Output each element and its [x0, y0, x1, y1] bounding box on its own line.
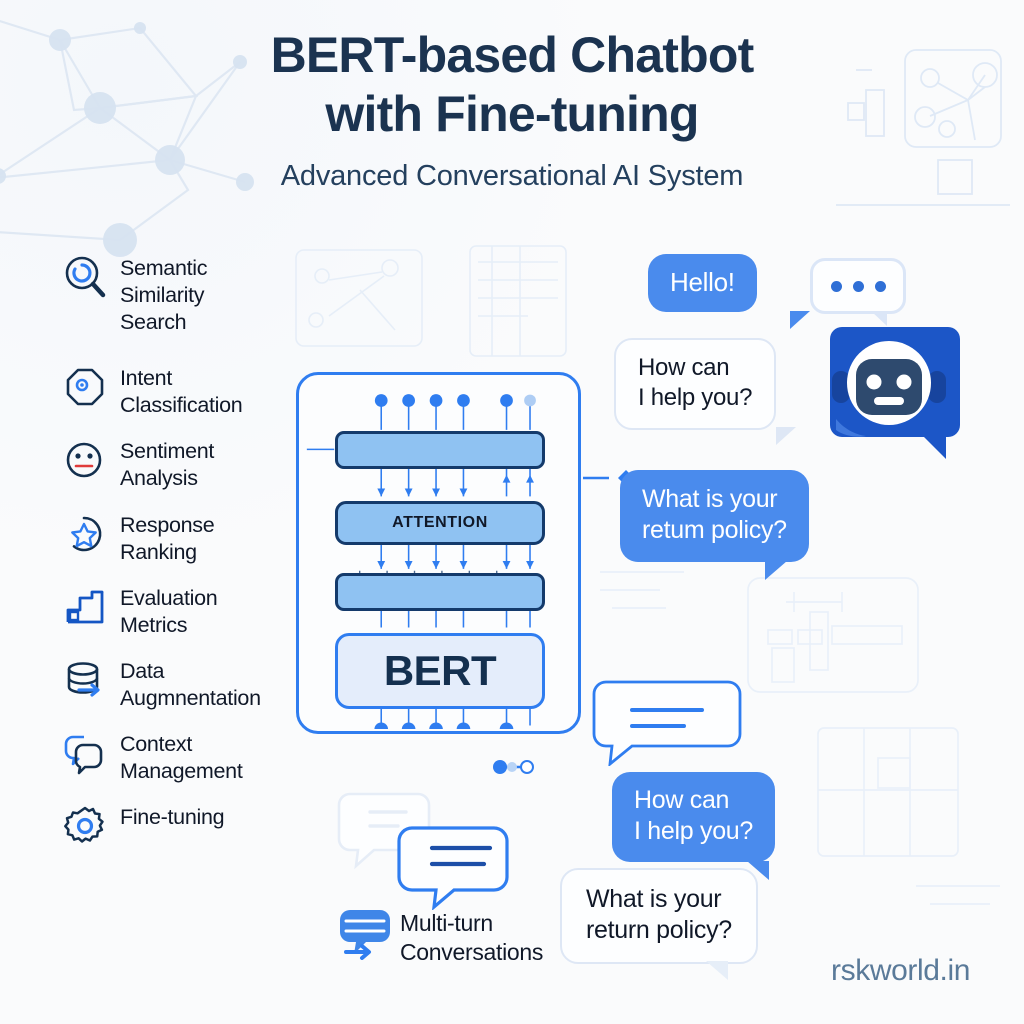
typing-dot	[831, 281, 842, 292]
feature-item-multi-turn-conversations[interactable]: Multi-turn Conversations	[340, 908, 543, 967]
database-arrow-icon	[62, 657, 108, 703]
chatbot-avatar	[818, 327, 960, 459]
bubble-text: How can I help you?	[634, 786, 753, 845]
bubble-tail	[790, 311, 810, 329]
feature-item-intent-classification[interactable]: Intent Classification	[62, 362, 314, 419]
feature-label: Sentiment Analysis	[120, 435, 214, 492]
neutral-face-icon	[62, 437, 108, 483]
bubble-tail	[765, 561, 787, 580]
bar-chart-icon	[62, 584, 108, 630]
feature-item-evaluation-metrics[interactable]: Evaluation Metrics	[62, 582, 314, 639]
watermark: rskworld.in	[831, 954, 970, 988]
typing-indicator-bubble	[810, 258, 906, 314]
bubble-tail	[706, 961, 728, 980]
feature-label: Intent Classification	[120, 362, 242, 419]
bubble-text: What is your retum policy?	[642, 485, 787, 544]
typing-dot	[853, 281, 864, 292]
page-subtitle: Advanced Conversational AI System	[0, 160, 1024, 193]
feature-label: Context Management	[120, 728, 243, 785]
feature-item-sentiment-analysis[interactable]: Sentiment Analysis	[62, 435, 314, 492]
attention-layer: ATTENTION	[335, 501, 545, 545]
chat-bubble-how-can-i-help-top[interactable]: How can I help you?	[614, 338, 776, 430]
star-circle-icon	[62, 511, 108, 557]
title-line-1: BERT-based Chatbot	[0, 26, 1024, 85]
bubble-tail	[776, 427, 796, 445]
chat-bubble-how-can-i-help-bottom[interactable]: How can I help you?	[612, 772, 775, 862]
gear-icon	[62, 803, 108, 849]
encoder-layer-bottom	[335, 573, 545, 611]
header-block: BERT-based Chatbot with Fine-tuning Adva…	[0, 26, 1024, 193]
feature-label: Fine-tuning	[120, 801, 224, 831]
feature-item-data-augmentation[interactable]: Data Augmnentation	[62, 655, 314, 712]
multi-turn-bubble-icon	[340, 908, 390, 965]
feature-label: Evaluation Metrics	[120, 582, 217, 639]
bubble-text: What is your return policy?	[586, 885, 732, 944]
feature-item-fine-tuning[interactable]: Fine-tuning	[62, 801, 314, 849]
chat-bubble-hello[interactable]: Hello!	[648, 254, 757, 312]
decorative-bubble-pair	[336, 790, 516, 910]
bubble-tail	[871, 311, 887, 326]
feature-label: Multi-turn Conversations	[400, 908, 543, 967]
chat-bubbles-icon	[62, 730, 108, 776]
octagon-dot-icon	[62, 364, 108, 410]
infographic-canvas: BERT-based Chatbot with Fine-tuning Adva…	[0, 0, 1024, 1024]
magnifier-circle-icon	[62, 254, 108, 300]
bubble-text: How can I help you?	[638, 354, 752, 411]
feature-list: Semantic Similarity Search Intent Classi…	[62, 252, 314, 865]
feature-label: Response Ranking	[120, 509, 214, 566]
bert-architecture-diagram: ATTENTION BERT	[296, 372, 581, 734]
feature-label: Data Augmnentation	[120, 655, 261, 712]
feature-label: Semantic Similarity Search	[120, 252, 207, 336]
feature-item-semantic-similarity-search[interactable]: Semantic Similarity Search	[62, 252, 314, 336]
page-title: BERT-based Chatbot with Fine-tuning	[0, 26, 1024, 144]
chat-bubble-return-policy-top[interactable]: What is your retum policy?	[620, 470, 809, 562]
title-line-2: with Fine-tuning	[0, 85, 1024, 144]
bubble-text: Hello!	[670, 267, 735, 297]
encoder-layer-top	[335, 431, 545, 469]
feature-item-context-management[interactable]: Context Management	[62, 728, 314, 785]
bert-model-box: BERT	[335, 633, 545, 709]
feature-item-response-ranking[interactable]: Response Ranking	[62, 509, 314, 566]
chat-bubble-return-policy-bottom[interactable]: What is your return policy?	[560, 868, 758, 964]
typing-dot	[875, 281, 886, 292]
decorative-message-bubble	[592, 680, 742, 766]
